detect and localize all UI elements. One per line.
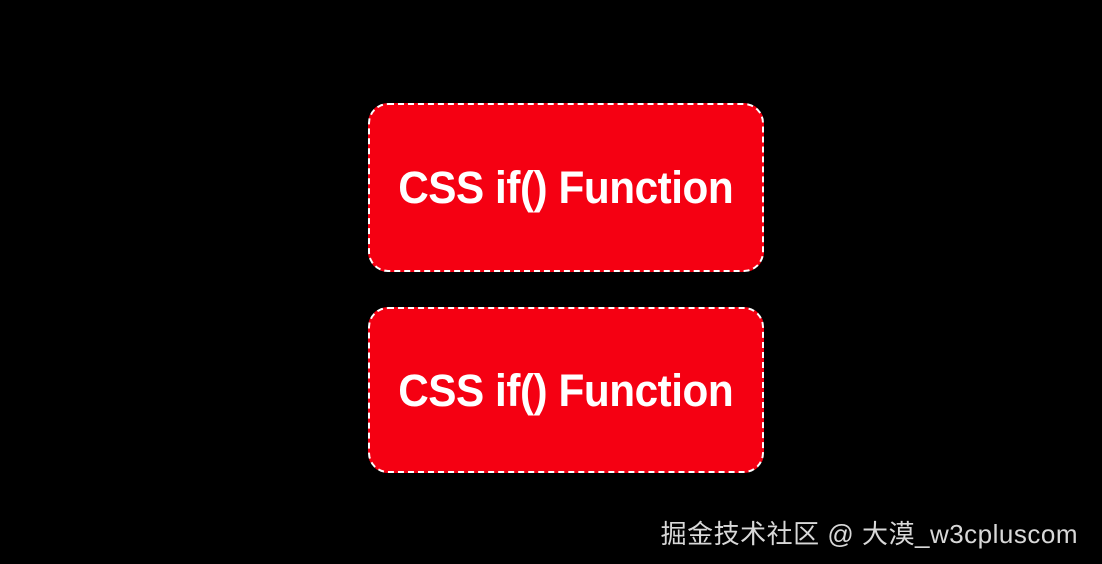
demo-box-1[interactable]: CSS if() Function xyxy=(368,103,764,272)
demo-canvas: CSS if() Function CSS if() Function 掘金技术… xyxy=(0,0,1102,564)
demo-box-2[interactable]: CSS if() Function xyxy=(368,307,764,473)
demo-box-1-label: CSS if() Function xyxy=(370,165,733,210)
watermark-text: 掘金技术社区 @ 大漠_w3cpluscom xyxy=(661,519,1078,550)
demo-box-2-label: CSS if() Function xyxy=(370,368,733,413)
